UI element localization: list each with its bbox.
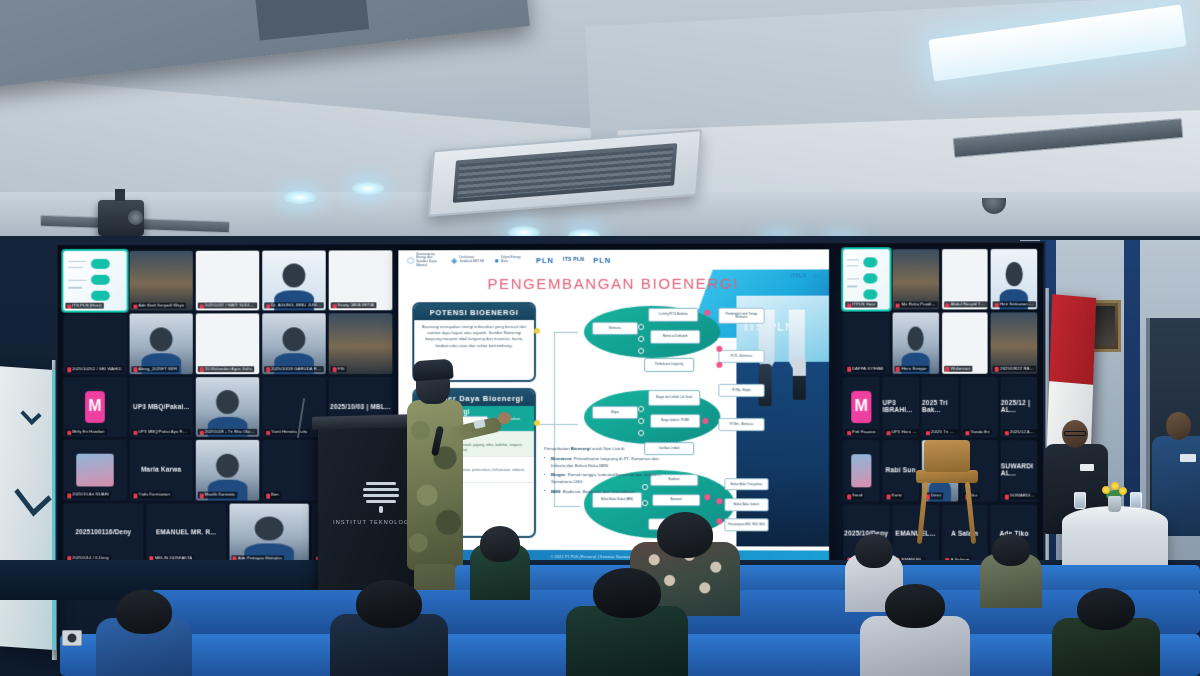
logo-energi-baru: ● Ditjen Energi Baru bbox=[494, 256, 527, 265]
participant-tile[interactable]: 2025 Tri Bak...20/25 Tri Bakri bbox=[922, 377, 958, 438]
tile-photo-avatar bbox=[77, 454, 114, 486]
audience-member bbox=[1052, 588, 1160, 676]
participant-tile[interactable]: 2025/10 Ari NUARI bbox=[63, 440, 126, 500]
ceiling-downlight bbox=[352, 182, 384, 195]
participant-name-label: Dr. AGUNG, IBNU JUWONO, SISWANTO bbox=[264, 303, 324, 309]
participant-name-label: Yuda Kurniawan bbox=[132, 492, 172, 498]
participant-name-label: Ade Budi Suryadi Waya bbox=[132, 303, 187, 309]
flow-node bbox=[638, 336, 644, 342]
participant-tile[interactable]: 20251032 / WATI SUDIRA SURANO bbox=[196, 251, 259, 311]
flow-output-box: PLTBg - Biogas bbox=[718, 384, 764, 397]
ac-grille bbox=[453, 143, 678, 203]
flow-output-box: PLTU - Biomassa bbox=[718, 350, 764, 363]
flower-vase bbox=[1100, 482, 1128, 512]
glasses-icon bbox=[1064, 431, 1086, 436]
flow-output-box: PLTBm - Biomassa bbox=[718, 418, 764, 431]
participant-tile[interactable]: Suud bbox=[843, 440, 879, 501]
participant-tile[interactable]: DAFFA SYIHAB bbox=[843, 313, 889, 374]
participant-name-label: Heru Siregar bbox=[894, 365, 928, 371]
tile-webcam-face bbox=[130, 314, 193, 374]
participant-tile[interactable]: Maria KarwaYuda Kurniawan bbox=[130, 440, 193, 500]
participant-tile[interactable]: EMANUEL MR. R...MELIN 2025FAKTA bbox=[146, 503, 226, 563]
flow-connector bbox=[554, 332, 578, 333]
participant-tile[interactable]: 2025/12 | AL...2025/12 Ambi Winata bbox=[1001, 377, 1037, 438]
participant-name-label: ITPLN Host bbox=[845, 302, 877, 308]
flow-node bbox=[638, 348, 644, 354]
audience-head bbox=[885, 584, 945, 628]
participant-tile[interactable]: Heru Siregar bbox=[892, 313, 938, 374]
tile-name-placeholder: 2025100116/Deny bbox=[75, 530, 131, 537]
participant-name-label: 2025/10/18 GARUDA RAUL SUBANG bbox=[264, 366, 324, 372]
participant-tile[interactable]: Afeng_2025FT WIFI bbox=[130, 314, 193, 374]
participant-tile[interactable]: 2025/10/18 GARUDA RAUL SUBANG bbox=[262, 314, 326, 374]
participant-name-label: Maulik Karwwia bbox=[198, 492, 237, 498]
flow-node-pink bbox=[716, 346, 722, 352]
participant-name-label: 2025/10 Ari NUARI bbox=[65, 492, 110, 498]
flag-stripe-red bbox=[1049, 294, 1096, 385]
participant-name-label: DAFFA SYIHAB bbox=[845, 365, 885, 371]
flow-node-pink bbox=[702, 418, 708, 424]
tile-name-placeholder: Maria Karwa bbox=[141, 467, 181, 474]
flower-bud bbox=[1119, 487, 1127, 495]
bullet-item: Biogas: Rumah tangga, komunal/komersial … bbox=[544, 472, 666, 486]
flow-box: Biogas dari Limbah Cair Sawit bbox=[648, 390, 700, 406]
flow-ellipse-label: Biogas bbox=[592, 406, 638, 419]
tile-blank-video bbox=[196, 314, 259, 374]
participant-row: ITS PLN (Host)Ade Budi Suryadi Waya20251… bbox=[63, 250, 392, 311]
participant-name-label: Abdul Rasyid Tabrani bbox=[944, 302, 987, 308]
led-video-wall[interactable]: ITS PLN (Host)Ade Budi Suryadi Waya20251… bbox=[56, 241, 1046, 573]
flow-ellipse-label: Biomassa bbox=[592, 322, 638, 335]
tile-webcam-room bbox=[991, 313, 1037, 374]
audience-head bbox=[480, 526, 520, 562]
participant-tile[interactable]: Maulik Karwwia bbox=[196, 440, 259, 500]
participant-name-label: Suud bbox=[845, 493, 864, 499]
flow-connector bbox=[554, 506, 580, 507]
bullet-lead: Pemanfaatan Bioenergi untuk Non Listrik: bbox=[544, 446, 666, 453]
tile-name-placeholder: SUWARDI AL... bbox=[1001, 464, 1037, 478]
pln-logo-secondary: PLN bbox=[593, 255, 611, 264]
flower-bud bbox=[1111, 482, 1119, 490]
tile-name-placeholder: 2025/10/03 | MBL... bbox=[330, 404, 391, 411]
logo-text: Kementerian Energi dan Sumber Daya Miner… bbox=[416, 253, 442, 267]
audience-head bbox=[855, 534, 893, 568]
logo-glyph: ◈ bbox=[451, 256, 457, 265]
bullet-bold: Biogas bbox=[551, 472, 565, 477]
flow-box: Biogas Industri / POME bbox=[650, 414, 700, 428]
tile-webcam-face bbox=[892, 313, 938, 374]
participant-name-label: Afeng_2025FT WIFI bbox=[132, 366, 180, 372]
participant-tile[interactable]: UP3 MBQ/Pakai...UP3 MBQ/Pakai Ayu Rahini bbox=[130, 377, 193, 437]
participant-tile[interactable]: ITS PLN (Host) bbox=[63, 251, 126, 311]
participant-name-label: Ilvany JAYA SETIA bbox=[331, 302, 376, 308]
presenter-songkok-cap bbox=[412, 359, 453, 382]
conference-hall-photo: ITS PLN (Host)Ade Budi Suryadi Waya20251… bbox=[0, 0, 1200, 676]
flow-node bbox=[638, 406, 644, 412]
participant-row: 2025/10252 / SRI WAHIDAfeng_2025FT WIFI2… bbox=[63, 314, 392, 374]
flow-output-box: Pembangkit Listrik Tenaga Biomassa bbox=[718, 308, 764, 324]
lead-prefix: Pemanfaatan bbox=[544, 446, 571, 451]
flow-output-box: Bahan Bakar Industri bbox=[724, 498, 768, 511]
flow-node-pink bbox=[716, 362, 722, 368]
flow-box: Co-firing PLTU Batubara bbox=[648, 308, 698, 322]
participant-tile[interactable]: 2025100116/Deny20251014 / 6.Deny bbox=[63, 503, 143, 563]
flow-node bbox=[638, 418, 644, 424]
participant-name-label: Firli Fauzan bbox=[845, 429, 877, 435]
participant-name-label: Mirly Eri Handari bbox=[65, 429, 106, 435]
audience-member bbox=[566, 568, 688, 676]
participant-tile[interactable]: MMirly Eri Handari bbox=[63, 377, 126, 437]
participant-tile[interactable]: MFirli Fauzan bbox=[843, 377, 879, 438]
slide-logo-bar: ⬡ Kementerian Energi dan Sumber Daya Min… bbox=[398, 249, 829, 270]
flow-node-yellow bbox=[534, 328, 540, 334]
audience-head bbox=[116, 590, 172, 634]
pln-logo: PLN bbox=[536, 255, 554, 264]
flow-node-pink bbox=[704, 494, 710, 500]
participant-name-label: 20/25 Tri Bakri bbox=[924, 429, 958, 435]
audience-head bbox=[992, 534, 1030, 566]
audience-member bbox=[330, 580, 448, 676]
participant-name-label: Karni bbox=[885, 493, 904, 499]
participant-name-label: Wulansari bbox=[944, 365, 973, 371]
card-body: Bioenergi merupakan energi terbarukan ya… bbox=[414, 320, 534, 353]
participant-name-label: 2025/10252 / SRI WAHID bbox=[65, 366, 123, 372]
participant-tile[interactable]: Abdul Rasyid Tabrani bbox=[942, 249, 988, 310]
participant-tile[interactable]: FIS bbox=[329, 314, 393, 374]
participant-tile[interactable]: 2025/09/22 RAJA SUWANDI bbox=[991, 313, 1037, 374]
institution-flag bbox=[0, 366, 56, 650]
bullet-text: : Rumah tangga, komunal/komersial dan In… bbox=[551, 472, 661, 484]
slide-title: PENGEMBANGAN BIOENERGI bbox=[398, 275, 829, 293]
logo-ebtke: ◈ Direktorat Jenderal EBTKE bbox=[451, 256, 485, 265]
participant-row: MFirli FauzanUP3 IBRAHI...UP3 Heru Fajar… bbox=[843, 377, 1037, 438]
participant-tile[interactable]: Dr. AGUNG, IBNU JUWONO, SISWANTO bbox=[262, 250, 326, 310]
flow-node-yellow bbox=[534, 420, 540, 426]
flow-box: Biomassa Dedicated bbox=[650, 330, 700, 344]
audience-head bbox=[356, 580, 422, 628]
participant-name-label: 2025/09/22 RAJA SUWANDI bbox=[993, 365, 1037, 371]
lead-bold: Bioenergi bbox=[571, 446, 591, 451]
participant-name-label: UP3 Heru Fajar Tjia bbox=[885, 429, 919, 435]
flag-emblem-upper bbox=[20, 404, 41, 425]
participant-tile[interactable]: 20 Wulandari Agus Sulis bbox=[196, 314, 259, 374]
presenter-hand bbox=[498, 412, 511, 424]
bullet-item: Biomassa: Pemanfaatan langsung di PT. Su… bbox=[544, 456, 666, 470]
tile-blank-video bbox=[942, 313, 988, 374]
water-glass bbox=[1130, 492, 1142, 509]
participant-row: DAFFA SYIHABHeru SiregarWulansari2025/09… bbox=[843, 313, 1037, 374]
flow-connector bbox=[554, 332, 555, 426]
participant-tile[interactable]: Me Relia Pandika bbox=[892, 249, 938, 310]
audience-head bbox=[657, 512, 713, 558]
participant-tile[interactable]: Wulansari bbox=[942, 313, 988, 374]
participant-name-label: ITS PLN (Host) bbox=[65, 303, 103, 309]
participant-tile[interactable]: Rabi SunKarni bbox=[882, 440, 918, 501]
ceiling-downlight bbox=[284, 191, 316, 204]
card-header: POTENSI BIOENERGI bbox=[414, 304, 534, 320]
flow-node-pink bbox=[716, 498, 722, 504]
participant-tile[interactable]: 20251028 - Tri Eka Okutalin bbox=[196, 377, 259, 437]
panel-chair-back bbox=[924, 440, 970, 472]
water-glass bbox=[1074, 492, 1086, 509]
flow-node bbox=[638, 430, 644, 436]
participant-tile[interactable]: 2025/10252 / SRI WAHID bbox=[63, 314, 126, 374]
flag-emblem-icon bbox=[14, 475, 51, 517]
participant-row: ITPLN HostMe Relia PandikaAbdul Rasyid T… bbox=[843, 249, 1037, 310]
participant-name-label: SUWARDI AL... bbox=[1003, 493, 1037, 499]
logo-text: Direktorat Jenderal EBTKE bbox=[459, 257, 485, 264]
logo-glyph: ⬡ bbox=[407, 256, 414, 265]
participant-grid-right[interactable]: ITPLN HostMe Relia PandikaAbdul Rasyid T… bbox=[843, 249, 1037, 565]
vase bbox=[1108, 496, 1121, 512]
flow-node bbox=[642, 500, 648, 506]
slide-bullet-block: Pemanfaatan Bioenergi untuk Non Listrik:… bbox=[544, 446, 666, 499]
audience-member bbox=[980, 534, 1042, 608]
bullet-bold: Biomassa bbox=[551, 456, 571, 461]
logo-kesdm: ⬡ Kementerian Energi dan Sumber Daya Min… bbox=[407, 253, 442, 267]
audience-head bbox=[593, 568, 661, 618]
tile-name-placeholder: UP3 IBRAHI... bbox=[882, 400, 918, 414]
tile-name-placeholder: EMANUEL MR. R... bbox=[156, 530, 216, 537]
participant-name-label: 20251032 / WATI SUDIRA SURANO bbox=[198, 303, 258, 309]
participant-tile[interactable]: Ben bbox=[262, 440, 326, 500]
tile-initial-avatar: M bbox=[85, 391, 105, 423]
flow-output-box: Bahan Bakar Transportasi bbox=[724, 478, 768, 490]
tile-webcam-room bbox=[329, 314, 393, 374]
itpln-emblem-icon bbox=[363, 482, 399, 512]
participant-name-label: Heri Setiawan Yuda bbox=[993, 301, 1037, 307]
participant-tile[interactable]: Ilvany JAYA SETIA bbox=[329, 250, 393, 310]
participant-tile[interactable]: Heri Setiawan Yuda bbox=[991, 249, 1037, 310]
participant-name-label: 20251028 - Tri Eka Okutalin bbox=[198, 429, 258, 435]
bullet-item: BBN: Biodiesel, Bioetanol, dan Greendies… bbox=[544, 489, 666, 496]
audience-member bbox=[96, 590, 192, 676]
tile-photo-avatar bbox=[851, 454, 872, 487]
participant-tile[interactable]: Ade Budi Suryadi Waya bbox=[130, 251, 193, 311]
participant-name-label: FIS bbox=[331, 366, 347, 372]
participant-tile[interactable]: UP3 IBRAHI...UP3 Heru Fajar Tjia bbox=[882, 377, 918, 438]
tile-webcam-face bbox=[262, 314, 326, 374]
flow-node bbox=[638, 324, 644, 330]
participant-name-label: Ben bbox=[264, 492, 281, 498]
participant-name-label: UP3 MBQ/Pakai Ayu Rahini bbox=[132, 429, 191, 435]
tile-initial-avatar: M bbox=[851, 391, 871, 423]
participant-name-label: 20 Wulandari Agus Sulis bbox=[198, 366, 254, 372]
lead-suffix: untuk Non Listrik: bbox=[591, 446, 625, 451]
audience-member bbox=[860, 584, 970, 676]
logo-text: Ditjen Energi Baru bbox=[501, 256, 527, 263]
participant-tile[interactable]: ITPLN Host bbox=[843, 249, 889, 310]
wall-power-socket-icon bbox=[62, 630, 82, 646]
bullet-list: Biomassa: Pemanfaatan langsung di PT. Su… bbox=[544, 456, 666, 496]
participant-name-label: Yanda Eri bbox=[963, 429, 991, 435]
audience-head bbox=[1077, 588, 1135, 630]
tile-name-placeholder: 2025/12 | AL... bbox=[1001, 400, 1037, 414]
ceiling-projector bbox=[98, 200, 144, 236]
participant-name-label: Me Relia Pandika bbox=[894, 302, 937, 308]
participant-tile[interactable]: SUWARDI AL...SUWARDI AL... bbox=[1001, 440, 1037, 501]
logo-glyph: ● bbox=[494, 256, 499, 265]
flow-node-pink bbox=[704, 310, 710, 316]
participant-tile[interactable]: Ade Pertagas Muttakin bbox=[229, 503, 309, 563]
flow-box: Pembakaran Langsung bbox=[644, 358, 694, 372]
audience-member bbox=[470, 526, 530, 600]
panelist-head bbox=[1166, 412, 1191, 440]
participant-name-label: Yanti Herwita Juita bbox=[264, 429, 309, 435]
flow-connector bbox=[554, 424, 578, 425]
name-badge bbox=[1180, 454, 1196, 462]
ceiling bbox=[0, 0, 1200, 250]
tile-name-placeholder: Rabi Sun bbox=[886, 467, 916, 474]
participant-tile[interactable]: Yanda Eri bbox=[961, 377, 997, 438]
itpln-logo: ITS PLN bbox=[563, 257, 584, 263]
tile-name-placeholder: UP3 MBQ/Pakai... bbox=[133, 404, 189, 411]
tile-name-placeholder: 2025 Tri Bak... bbox=[922, 400, 958, 414]
bullet-bold: BBN bbox=[551, 489, 560, 494]
name-badge bbox=[1080, 464, 1094, 471]
participant-name-label: 2025/12 Ambi Winata bbox=[1003, 429, 1037, 435]
bullet-text: : Biodiesel, Bioetanol, dan Greendiesel bbox=[560, 489, 634, 494]
flower-bud bbox=[1102, 486, 1110, 494]
